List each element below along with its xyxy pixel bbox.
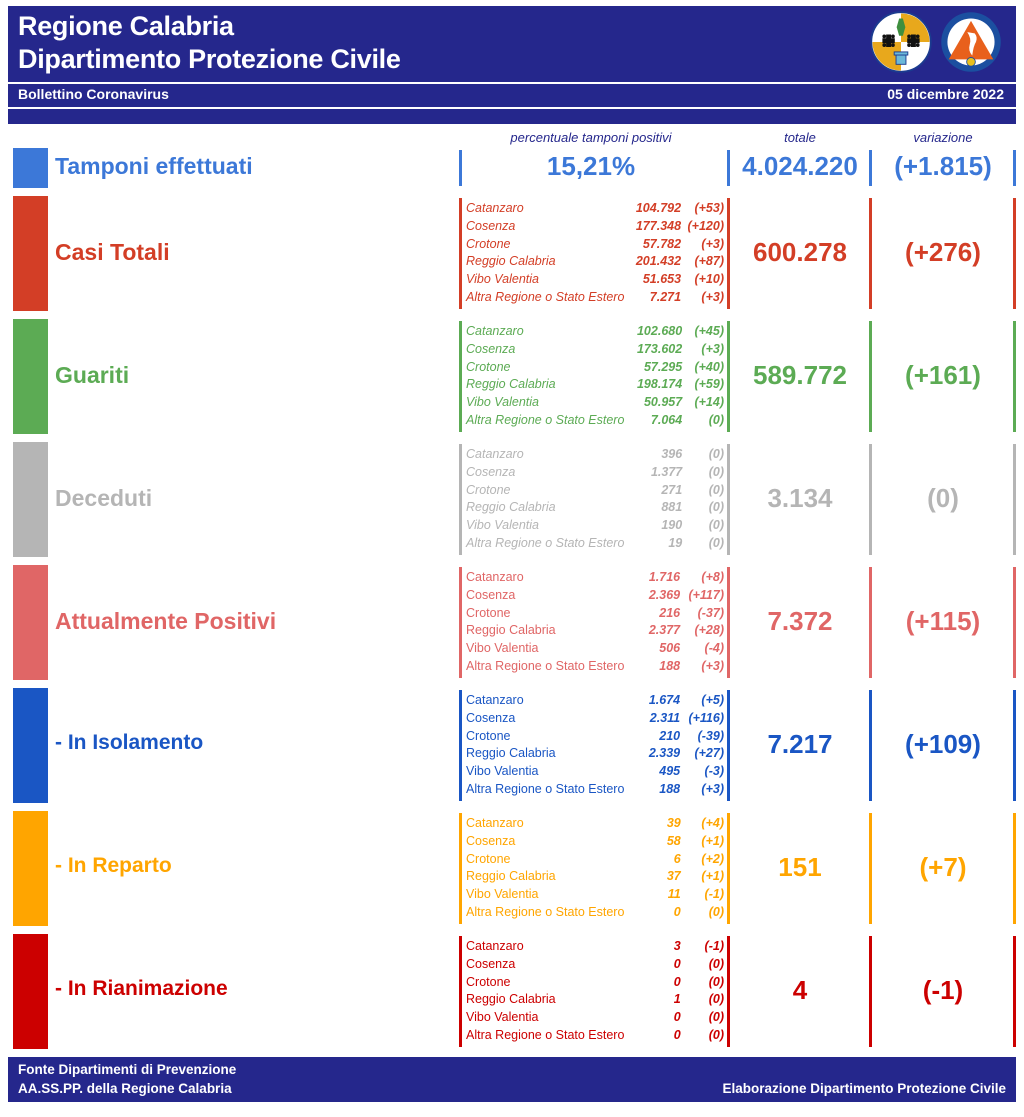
row-attualmente-positivi: Attualmente PositiviCatanzaro1.716(+8)Co… [0,561,1024,684]
total-value-guariti: 589.772 [731,360,869,391]
breakdown-region-value: 6 [624,851,680,869]
breakdown-region-delta: (0) [681,956,724,974]
variation-value-in-rianimazione: (-1) [874,975,1012,1006]
breakdown-region-name: Catanzaro [466,446,624,464]
column-divider-4 [1013,444,1016,555]
total-value-deceduti: 3.134 [731,483,869,514]
breakdown-table-in-reparto: Catanzaro39(+4)Cosenza58(+1)Crotone6(+2)… [466,815,724,922]
breakdown-region-value: 2.339 [624,745,680,763]
table-row: Crotone210(-39) [466,728,724,746]
breakdown-region-delta: (+4) [681,815,724,833]
breakdown-region-value: 7.271 [624,289,681,307]
breakdown-region-value: 58 [624,833,680,851]
header-bottom-strip [8,107,1016,124]
table-row: Altra Regione o Stato Estero0(0) [466,904,724,922]
breakdown-region-delta: (0) [682,517,724,535]
breakdown-region-name: Vibo Valentia [466,517,624,535]
column-divider-2 [727,150,730,186]
breakdown-region-delta: (0) [682,482,724,500]
breakdown-region-delta: (+120) [681,218,724,236]
table-row: Reggio Calabria2.339(+27) [466,745,724,763]
header-title-line2: Dipartimento Protezione Civile [18,43,1016,76]
breakdown-region-delta: (0) [681,904,724,922]
table-row: Catanzaro1.674(+5) [466,692,724,710]
breakdown-region-name: Crotone [466,728,624,746]
breakdown-region-name: Catanzaro [466,569,624,587]
breakdown-region-name: Cosenza [466,956,624,974]
page-header: Regione Calabria Dipartimento Protezione… [8,6,1016,124]
column-divider-1 [459,936,462,1047]
row-label-in-reparto: - In Reparto [55,854,172,878]
column-divider-4 [1013,690,1016,801]
color-bar-casi-totali [13,196,48,311]
breakdown-region-name: Crotone [466,851,624,869]
footer-source-line1: Fonte Dipartimenti di Prevenzione [18,1062,236,1077]
table-row: Crotone271(0) [466,482,724,500]
breakdown-region-name: Catanzaro [466,692,624,710]
table-row: Cosenza177.348(+120) [466,218,724,236]
breakdown-region-value: 19 [624,535,682,553]
breakdown-region-name: Crotone [466,236,624,254]
breakdown-region-name: Cosenza [466,341,624,359]
breakdown-region-value: 190 [624,517,682,535]
column-divider-1 [459,150,462,186]
color-bar-deceduti [13,442,48,557]
column-divider-3 [869,567,872,678]
breakdown-region-delta: (+27) [680,745,724,763]
breakdown-region-name: Reggio Calabria [466,499,624,517]
breakdown-region-value: 1 [624,991,680,1009]
total-value-casi-totali: 600.278 [731,237,869,268]
page-footer: Fonte Dipartimenti di Prevenzione AA.SS.… [8,1057,1016,1102]
breakdown-region-value: 37 [624,868,680,886]
breakdown-table-guariti: Catanzaro102.680(+45)Cosenza173.602(+3)C… [466,323,724,430]
breakdown-region-delta: (+53) [681,200,724,218]
tamponi-positivity-percentage: 15,21% [466,151,716,182]
column-divider-3 [869,444,872,555]
breakdown-region-delta: (0) [681,991,724,1009]
table-row: Altra Regione o Stato Estero188(+3) [466,658,724,676]
breakdown-region-name: Altra Regione o Stato Estero [466,535,624,553]
table-row: Catanzaro1.716(+8) [466,569,724,587]
column-divider-2 [727,198,730,309]
breakdown-region-value: 177.348 [624,218,681,236]
breakdown-region-delta: (+45) [682,323,724,341]
breakdown-region-name: Vibo Valentia [466,394,624,412]
breakdown-region-name: Crotone [466,605,624,623]
row-in-isolamento: - In IsolamentoCatanzaro1.674(+5)Cosenza… [0,684,1024,807]
column-heading-totale: totale [731,130,869,145]
breakdown-region-delta: (+2) [681,851,724,869]
breakdown-table-attualmente-positivi: Catanzaro1.716(+8)Cosenza2.369(+117)Crot… [466,569,724,676]
breakdown-region-name: Cosenza [466,710,624,728]
breakdown-region-name: Cosenza [466,218,624,236]
breakdown-table-casi-totali: Catanzaro104.792(+53)Cosenza177.348(+120… [466,200,724,307]
breakdown-table-in-isolamento: Catanzaro1.674(+5)Cosenza2.311(+116)Crot… [466,692,724,799]
breakdown-region-value: 216 [624,605,680,623]
breakdown-region-delta: (+10) [681,271,724,289]
column-divider-2 [727,321,730,432]
row-in-rianimazione: - In RianimazioneCatanzaro3(-1)Cosenza0(… [0,930,1024,1053]
breakdown-region-delta: (0) [681,1009,724,1027]
breakdown-region-name: Altra Regione o Stato Estero [466,781,624,799]
row-label-attualmente-positivi: Attualmente Positivi [55,608,276,635]
breakdown-region-value: 57.295 [624,359,682,377]
breakdown-region-name: Reggio Calabria [466,376,624,394]
breakdown-region-name: Vibo Valentia [466,640,624,658]
breakdown-region-name: Reggio Calabria [466,253,624,271]
breakdown-region-value: 0 [624,1009,680,1027]
table-row: Catanzaro102.680(+45) [466,323,724,341]
table-row: Vibo Valentia51.653(+10) [466,271,724,289]
row-label-guariti: Guariti [55,362,129,389]
column-divider-3 [869,813,872,924]
header-logos [870,11,1002,73]
table-row: Crotone57.782(+3) [466,236,724,254]
breakdown-region-value: 495 [624,763,680,781]
breakdown-region-value: 51.653 [624,271,681,289]
column-divider-1 [459,690,462,801]
table-row: Catanzaro396(0) [466,446,724,464]
color-bar-in-isolamento [13,688,48,803]
column-divider-4 [1013,321,1016,432]
breakdown-region-delta: (+5) [680,692,724,710]
breakdown-region-value: 57.782 [624,236,681,254]
breakdown-region-value: 271 [624,482,682,500]
breakdown-region-delta: (0) [682,446,724,464]
breakdown-region-value: 0 [624,974,680,992]
column-heading-variazione: variazione [874,130,1012,145]
breakdown-region-value: 0 [624,904,680,922]
breakdown-region-name: Reggio Calabria [466,868,624,886]
table-row: Vibo Valentia190(0) [466,517,724,535]
breakdown-table-deceduti: Catanzaro396(0)Cosenza1.377(0)Crotone271… [466,446,724,553]
breakdown-region-name: Crotone [466,359,624,377]
regione-calabria-crest-icon [870,11,932,73]
column-heading-percentuale: percentuale tamponi positivi [466,130,716,145]
column-divider-4 [1013,813,1016,924]
breakdown-region-value: 0 [624,1027,680,1045]
breakdown-region-value: 104.792 [624,200,681,218]
breakdown-region-name: Vibo Valentia [466,763,624,781]
breakdown-region-value: 1.716 [624,569,680,587]
row-label-deceduti: Deceduti [55,485,152,512]
breakdown-region-name: Reggio Calabria [466,991,624,1009]
table-row: Cosenza1.377(0) [466,464,724,482]
bulletin-label: Bollettino Coronavirus [18,86,169,102]
table-row: Altra Regione o Stato Estero19(0) [466,535,724,553]
table-row: Crotone6(+2) [466,851,724,869]
breakdown-region-value: 173.602 [624,341,682,359]
breakdown-table-in-rianimazione: Catanzaro3(-1)Cosenza0(0)Crotone0(0)Regg… [466,938,724,1045]
table-row: Crotone0(0) [466,974,724,992]
breakdown-region-delta: (+28) [680,622,724,640]
breakdown-region-delta: (+59) [682,376,724,394]
column-divider-3 [869,936,872,1047]
breakdown-region-delta: (-1) [681,886,724,904]
protezione-civile-logo-icon [940,11,1002,73]
variation-value-in-reparto: (+7) [874,852,1012,883]
breakdown-region-delta: (+14) [682,394,724,412]
breakdown-region-name: Cosenza [466,464,624,482]
breakdown-region-delta: (+3) [682,341,724,359]
breakdown-region-delta: (+8) [680,569,724,587]
breakdown-region-value: 7.064 [624,412,682,430]
breakdown-region-delta: (+3) [680,658,724,676]
breakdown-region-delta: (0) [682,535,724,553]
row-casi-totali: Casi TotaliCatanzaro104.792(+53)Cosenza1… [0,192,1024,315]
breakdown-region-value: 188 [624,781,680,799]
table-row: Crotone216(-37) [466,605,724,623]
breakdown-region-delta: (0) [682,464,724,482]
column-divider-3 [869,150,872,186]
row-guariti: GuaritiCatanzaro102.680(+45)Cosenza173.6… [0,315,1024,438]
breakdown-region-delta: (-4) [680,640,724,658]
breakdown-region-value: 50.957 [624,394,682,412]
column-divider-4 [1013,936,1016,1047]
column-divider-2 [727,936,730,1047]
breakdown-region-delta: (0) [681,1027,724,1045]
breakdown-region-delta: (+40) [682,359,724,377]
breakdown-region-value: 102.680 [624,323,682,341]
table-row: Reggio Calabria1(0) [466,991,724,1009]
breakdown-region-delta: (0) [682,499,724,517]
breakdown-region-name: Reggio Calabria [466,622,624,640]
footer-source-line2: AA.SS.PP. della Regione Calabria [18,1081,232,1096]
variation-value-tamponi-effettuati: (+1.815) [874,151,1012,182]
total-value-tamponi-effettuati: 4.024.220 [731,151,869,182]
table-row: Cosenza173.602(+3) [466,341,724,359]
header-main: Regione Calabria Dipartimento Protezione… [8,6,1016,82]
color-bar-guariti [13,319,48,434]
column-divider-4 [1013,150,1016,186]
table-row: Reggio Calabria881(0) [466,499,724,517]
breakdown-region-delta: (-39) [680,728,724,746]
total-value-in-rianimazione: 4 [731,975,869,1006]
breakdown-region-value: 881 [624,499,682,517]
column-divider-3 [869,198,872,309]
breakdown-region-name: Catanzaro [466,200,624,218]
breakdown-region-name: Catanzaro [466,815,624,833]
table-row: Vibo Valentia495(-3) [466,763,724,781]
table-row: Altra Regione o Stato Estero188(+3) [466,781,724,799]
breakdown-region-name: Altra Regione o Stato Estero [466,412,624,430]
column-divider-2 [727,444,730,555]
table-row: Altra Regione o Stato Estero7.064(0) [466,412,724,430]
table-row: Cosenza2.311(+116) [466,710,724,728]
table-row: Vibo Valentia506(-4) [466,640,724,658]
breakdown-region-delta: (+3) [681,289,724,307]
color-bar-in-rianimazione [13,934,48,1049]
total-value-attualmente-positivi: 7.372 [731,606,869,637]
variation-value-in-isolamento: (+109) [874,729,1012,760]
footer-elaboration: Elaborazione Dipartimento Protezione Civ… [722,1081,1006,1096]
breakdown-region-value: 201.432 [624,253,681,271]
table-row: Crotone57.295(+40) [466,359,724,377]
breakdown-region-value: 1.377 [624,464,682,482]
row-label-tamponi-effettuati: Tamponi effettuati [55,153,253,180]
total-value-in-reparto: 151 [731,852,869,883]
table-row: Cosenza58(+1) [466,833,724,851]
column-divider-4 [1013,567,1016,678]
breakdown-region-name: Vibo Valentia [466,271,624,289]
variation-value-guariti: (+161) [874,360,1012,391]
breakdown-region-value: 2.377 [624,622,680,640]
breakdown-region-value: 1.674 [624,692,680,710]
breakdown-region-value: 2.311 [624,710,680,728]
breakdown-region-name: Altra Regione o Stato Estero [466,658,624,676]
header-title-line1: Regione Calabria [18,10,1016,43]
table-row: Reggio Calabria198.174(+59) [466,376,724,394]
column-divider-1 [459,198,462,309]
column-divider-1 [459,813,462,924]
column-divider-3 [869,321,872,432]
breakdown-region-value: 188 [624,658,680,676]
variation-value-attualmente-positivi: (+115) [874,606,1012,637]
breakdown-region-value: 506 [624,640,680,658]
breakdown-region-delta: (0) [682,412,724,430]
variation-value-casi-totali: (+276) [874,237,1012,268]
column-divider-2 [727,690,730,801]
breakdown-region-delta: (+3) [680,781,724,799]
breakdown-region-value: 3 [624,938,680,956]
breakdown-region-delta: (-3) [680,763,724,781]
row-in-reparto: - In RepartoCatanzaro39(+4)Cosenza58(+1)… [0,807,1024,930]
breakdown-region-name: Cosenza [466,587,624,605]
breakdown-region-value: 39 [624,815,680,833]
column-divider-2 [727,567,730,678]
breakdown-region-name: Catanzaro [466,938,624,956]
breakdown-region-name: Altra Regione o Stato Estero [466,1027,624,1045]
breakdown-region-name: Reggio Calabria [466,745,624,763]
row-label-in-rianimazione: - In Rianimazione [55,977,228,1001]
breakdown-region-delta: (+116) [680,710,724,728]
row-deceduti: DecedutiCatanzaro396(0)Cosenza1.377(0)Cr… [0,438,1024,561]
table-row: Vibo Valentia50.957(+14) [466,394,724,412]
table-row: Catanzaro39(+4) [466,815,724,833]
table-row: Catanzaro3(-1) [466,938,724,956]
table-row: Vibo Valentia0(0) [466,1009,724,1027]
breakdown-region-name: Crotone [466,974,624,992]
table-row: Cosenza0(0) [466,956,724,974]
breakdown-region-name: Catanzaro [466,323,624,341]
breakdown-region-delta: (+117) [680,587,724,605]
breakdown-region-delta: (+1) [681,868,724,886]
breakdown-region-value: 198.174 [624,376,682,394]
breakdown-region-delta: (+87) [681,253,724,271]
table-row: Reggio Calabria201.432(+87) [466,253,724,271]
row-label-in-isolamento: - In Isolamento [55,731,203,755]
breakdown-region-name: Altra Regione o Stato Estero [466,289,624,307]
color-bar-tamponi-effettuati [13,148,48,188]
table-row: Reggio Calabria37(+1) [466,868,724,886]
column-divider-1 [459,444,462,555]
header-subtitle-bar: Bollettino Coronavirus 05 dicembre 2022 [8,82,1016,107]
color-bar-in-reparto [13,811,48,926]
table-row: Catanzaro104.792(+53) [466,200,724,218]
breakdown-region-value: 210 [624,728,680,746]
variation-value-deceduti: (0) [874,483,1012,514]
column-divider-4 [1013,198,1016,309]
breakdown-region-delta: (+3) [681,236,724,254]
column-divider-1 [459,567,462,678]
table-row: Altra Regione o Stato Estero7.271(+3) [466,289,724,307]
breakdown-region-value: 11 [624,886,680,904]
table-row: Cosenza2.369(+117) [466,587,724,605]
row-label-casi-totali: Casi Totali [55,239,170,266]
total-value-in-isolamento: 7.217 [731,729,869,760]
breakdown-region-delta: (-37) [680,605,724,623]
column-divider-2 [727,813,730,924]
breakdown-region-value: 396 [624,446,682,464]
breakdown-region-value: 2.369 [624,587,680,605]
breakdown-region-name: Vibo Valentia [466,1009,624,1027]
breakdown-region-name: Vibo Valentia [466,886,624,904]
breakdown-region-name: Altra Regione o Stato Estero [466,904,624,922]
column-divider-3 [869,690,872,801]
table-row: Altra Regione o Stato Estero0(0) [466,1027,724,1045]
table-row: Vibo Valentia11(-1) [466,886,724,904]
breakdown-region-delta: (-1) [681,938,724,956]
row-tamponi-effettuati: Tamponi effettuati15,21%4.024.220(+1.815… [0,144,1024,192]
table-row: Reggio Calabria2.377(+28) [466,622,724,640]
breakdown-region-delta: (+1) [681,833,724,851]
breakdown-region-name: Crotone [466,482,624,500]
breakdown-region-value: 0 [624,956,680,974]
color-bar-attualmente-positivi [13,565,48,680]
column-divider-1 [459,321,462,432]
breakdown-region-delta: (0) [681,974,724,992]
breakdown-region-name: Cosenza [466,833,624,851]
bulletin-date: 05 dicembre 2022 [887,86,1004,102]
